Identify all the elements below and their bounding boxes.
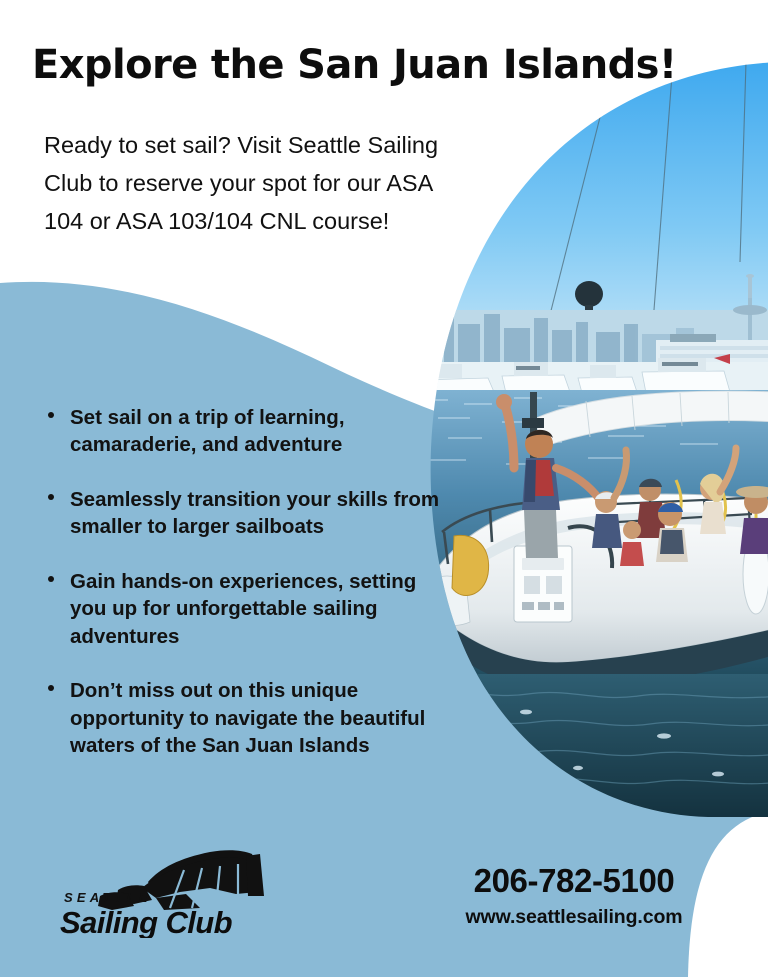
logo-name-text: Sailing Club	[60, 905, 233, 938]
bullet-dot-icon	[48, 576, 54, 582]
list-item-label: Don’t miss out on this unique opportunit…	[70, 677, 444, 759]
list-item-label: Seamlessly transition your skills from s…	[70, 486, 444, 541]
list-item: Don’t miss out on this unique opportunit…	[44, 677, 444, 759]
list-item-label: Set sail on a trip of learning, camarade…	[70, 404, 444, 459]
seattle-sailing-club-logo[interactable]: SEATTLE Sailing Club	[60, 848, 290, 938]
list-item: Set sail on a trip of learning, camarade…	[44, 404, 444, 459]
subheadline-line: Club to reserve your spot for our ASA	[44, 164, 524, 202]
bullet-dot-icon	[48, 494, 54, 500]
list-item: Seamlessly transition your skills from s…	[44, 486, 444, 541]
website-url[interactable]: www.seattlesailing.com	[424, 906, 724, 929]
flyer-page: Explore the San Juan Islands! Ready to s…	[0, 0, 768, 977]
logo-seattle-text: SEATTLE	[64, 890, 152, 905]
benefits-list: Set sail on a trip of learning, camarade…	[44, 404, 444, 760]
bullet-dot-icon	[48, 685, 54, 691]
contact-block: 206-782-5100 www.seattlesailing.com	[424, 862, 724, 929]
subheadline: Ready to set sail? Visit Seattle Sailing…	[44, 126, 524, 240]
phone-number[interactable]: 206-782-5100	[424, 862, 724, 901]
list-item-label: Gain hands-on experiences, setting you u…	[70, 568, 444, 650]
subheadline-line: Ready to set sail? Visit Seattle Sailing	[44, 126, 524, 164]
subheadline-line: 104 or ASA 103/104 CNL course!	[44, 202, 524, 240]
page-title: Explore the San Juan Islands!	[32, 44, 672, 86]
list-item: Gain hands-on experiences, setting you u…	[44, 568, 444, 650]
bullet-dot-icon	[48, 412, 54, 418]
